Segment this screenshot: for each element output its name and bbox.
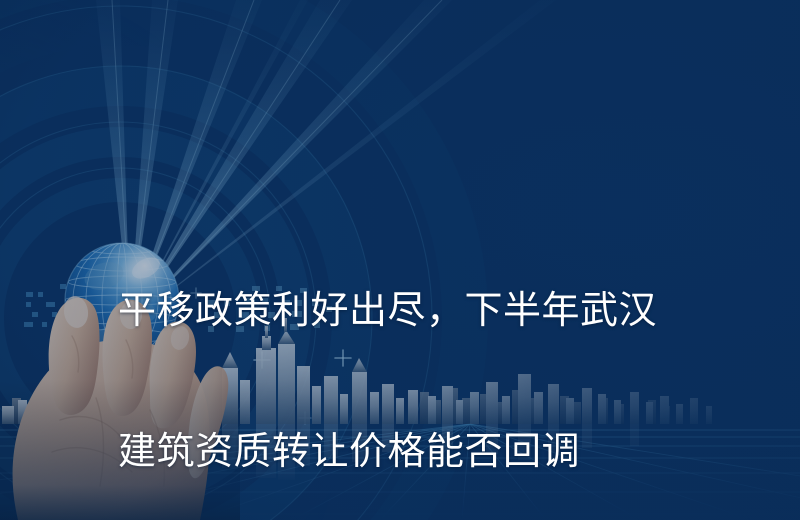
headline-line-1: 平移政策利好出尽，下半年武汉 (118, 287, 718, 334)
banner-image: 平移政策利好出尽，下半年武汉 建筑资质转让价格能否回调 (0, 0, 800, 520)
headline-line-2: 建筑资质转让价格能否回调 (118, 428, 718, 475)
page-title: 平移政策利好出尽，下半年武汉 建筑资质转让价格能否回调 (118, 193, 718, 520)
